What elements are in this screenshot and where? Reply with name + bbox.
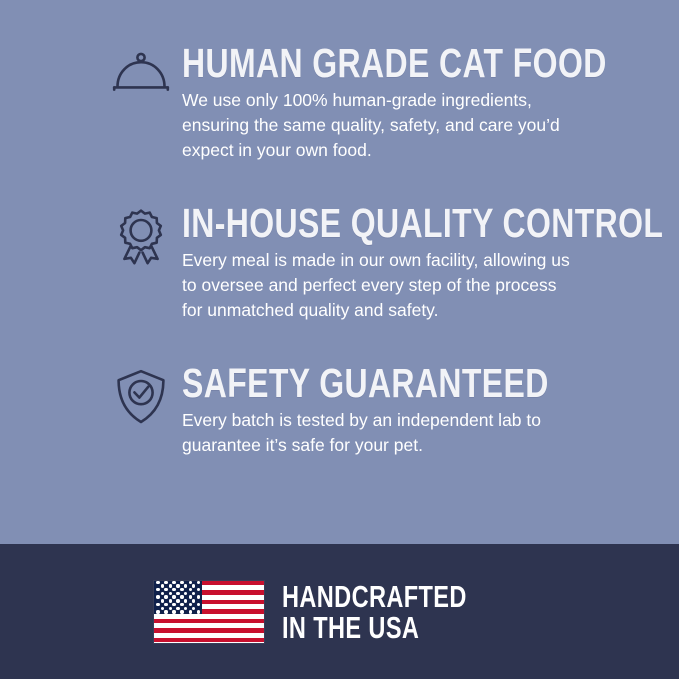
feature-description: Every meal is made in our own facility, …	[182, 248, 574, 323]
usa-flag-icon	[154, 581, 264, 643]
feature-description: Every batch is tested by an independent …	[182, 408, 574, 458]
footer-made-in-usa: HANDCRAFTED IN THE USA	[0, 544, 679, 679]
feature-body: IN-HOUSE QUALITY CONTROL Every meal is m…	[178, 204, 679, 323]
footer-line-1: HANDCRAFTED	[282, 581, 467, 612]
feature-title: IN-HOUSE QUALITY CONTROL	[182, 204, 663, 242]
feature-human-grade-cat-food: HUMAN GRADE CAT FOOD We use only 100% hu…	[0, 44, 679, 163]
award-rosette-icon	[104, 204, 178, 266]
footer-text: HANDCRAFTED IN THE USA	[282, 581, 467, 643]
feature-in-house-quality-control: IN-HOUSE QUALITY CONTROL Every meal is m…	[0, 204, 679, 323]
feature-safety-guaranteed: SAFETY GUARANTEED Every batch is tested …	[0, 364, 679, 458]
cloche-icon	[104, 44, 178, 98]
footer-line-2: IN THE USA	[282, 612, 467, 643]
feature-title: HUMAN GRADE CAT FOOD	[182, 44, 607, 82]
feature-body: HUMAN GRADE CAT FOOD We use only 100% hu…	[178, 44, 679, 163]
features-section: HUMAN GRADE CAT FOOD We use only 100% hu…	[0, 0, 679, 544]
product-feature-infographic: HUMAN GRADE CAT FOOD We use only 100% hu…	[0, 0, 679, 679]
feature-title: SAFETY GUARANTEED	[182, 364, 549, 402]
feature-description: We use only 100% human-grade ingredients…	[182, 88, 574, 163]
shield-check-icon	[104, 364, 178, 426]
flag-canton	[154, 581, 202, 614]
feature-body: SAFETY GUARANTEED Every batch is tested …	[178, 364, 679, 458]
